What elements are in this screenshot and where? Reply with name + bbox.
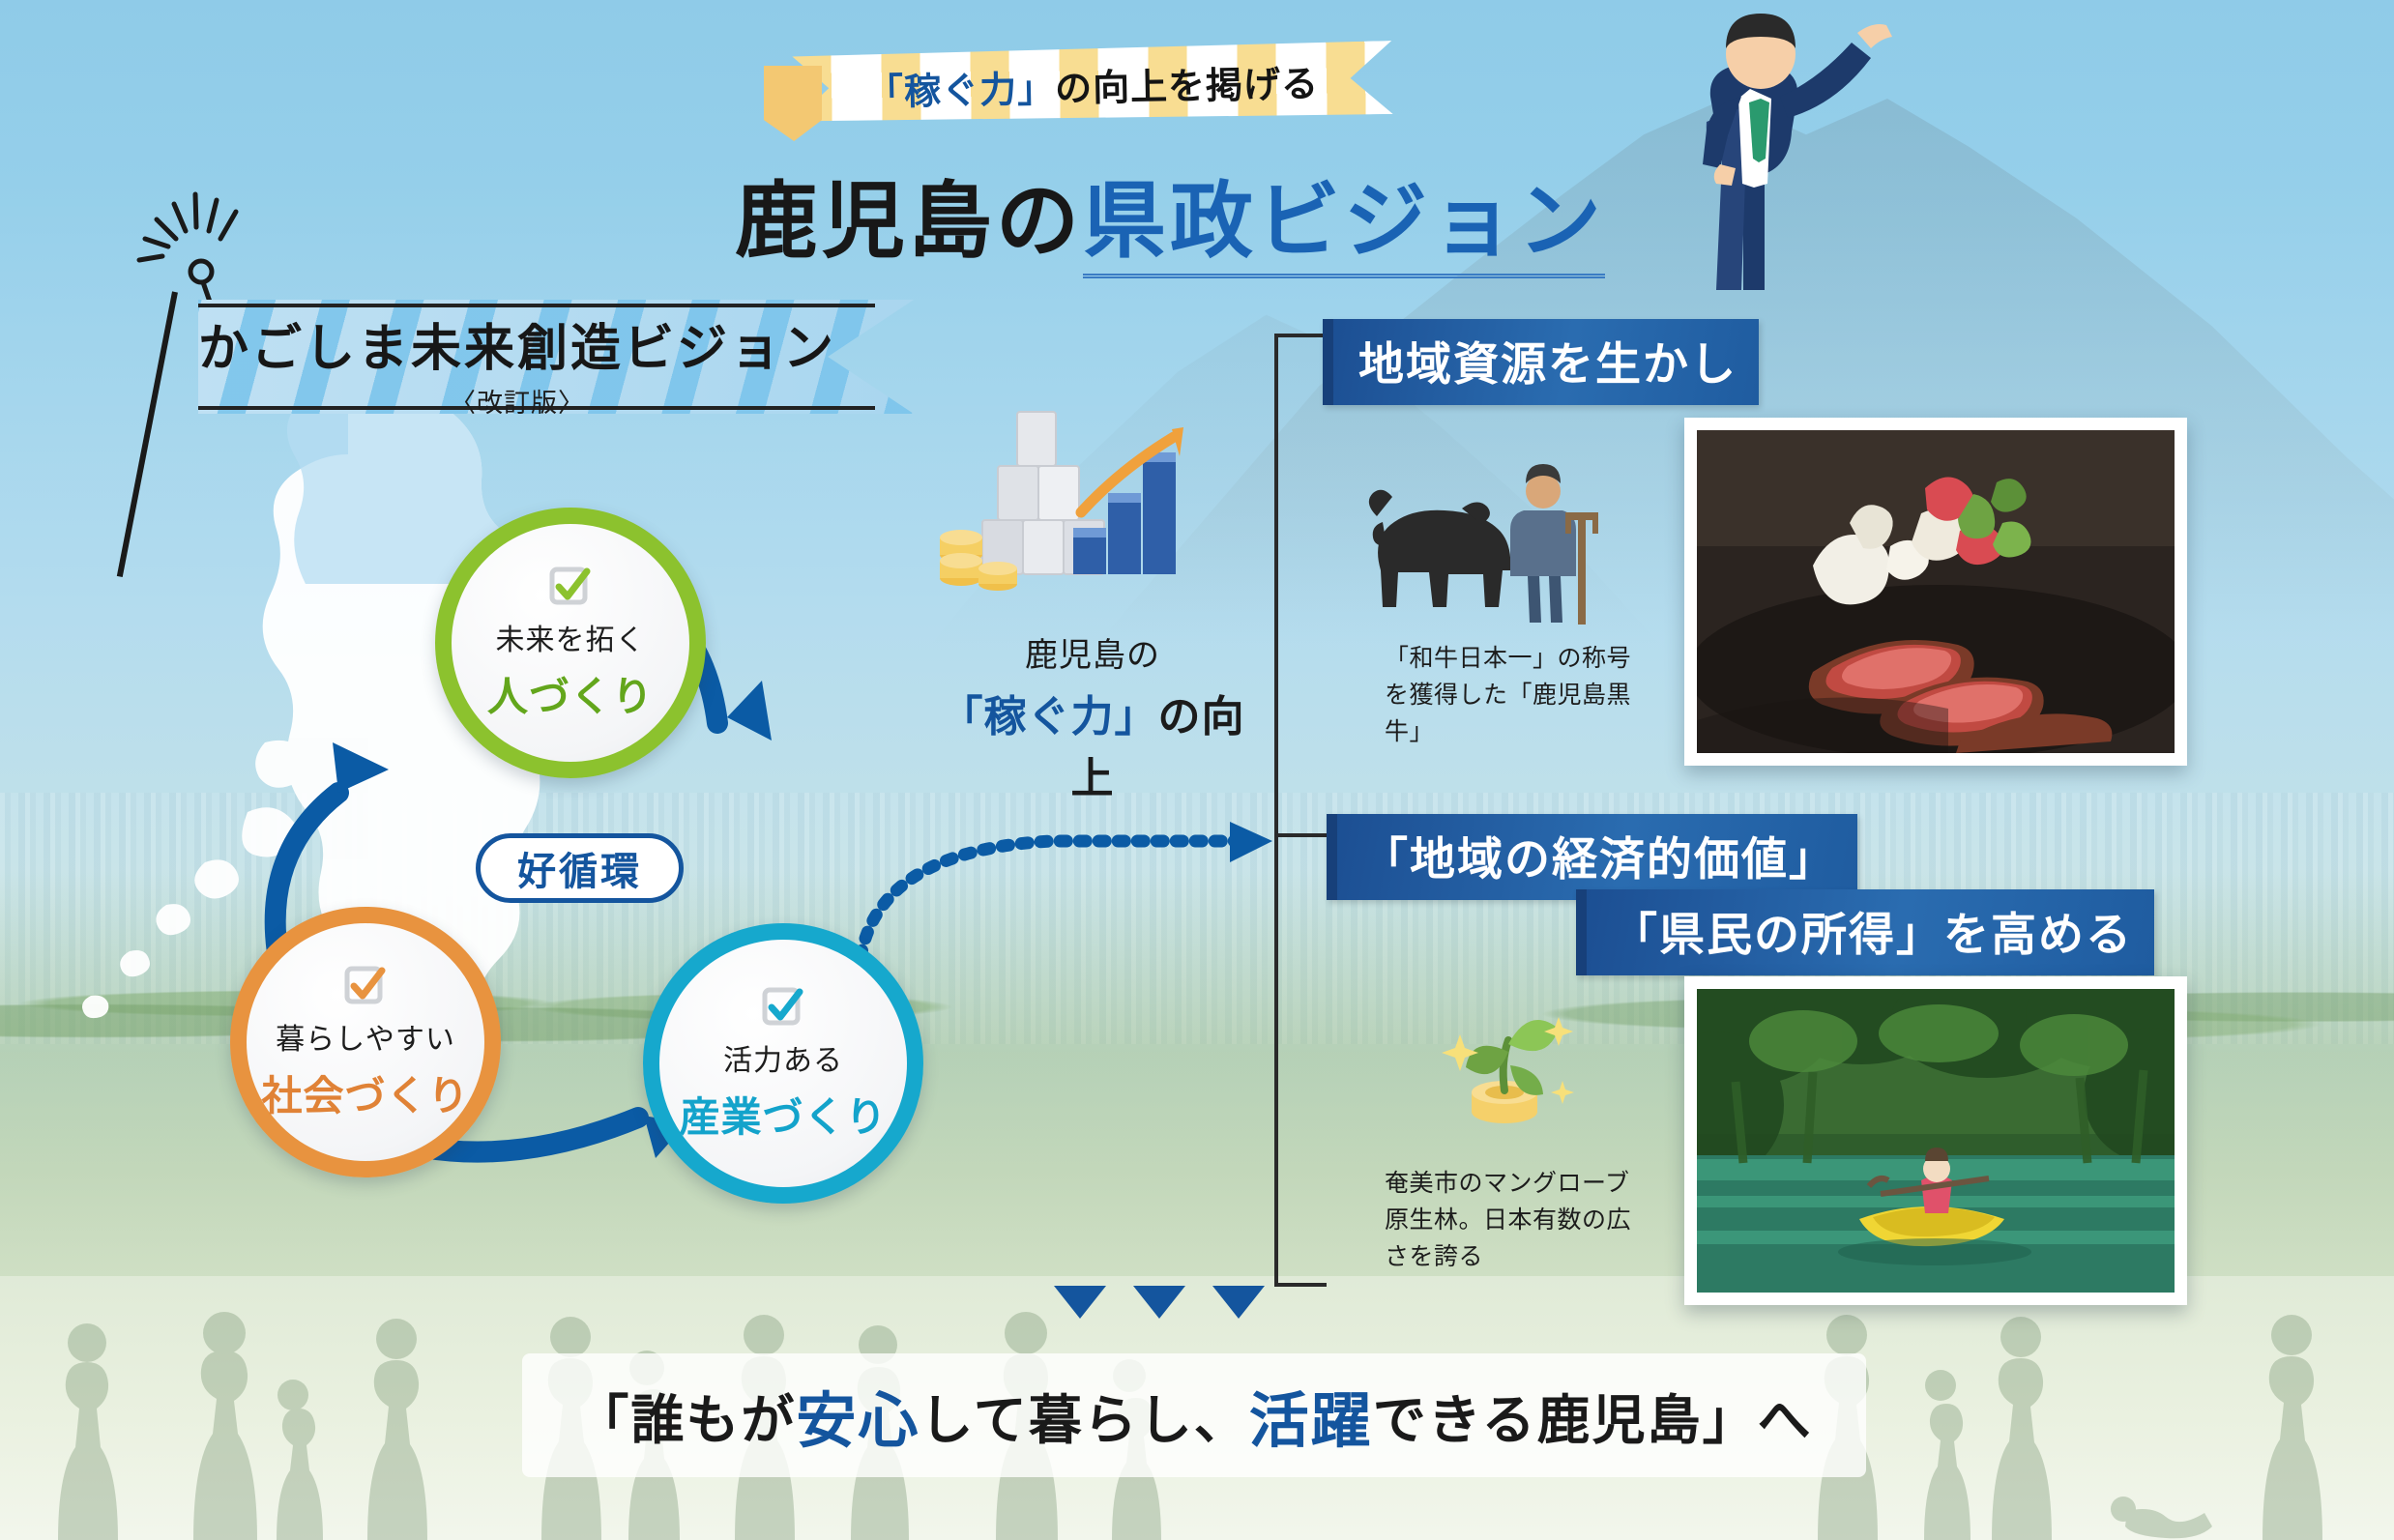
businessman-illustration bbox=[1581, 0, 1910, 319]
vision-banner-subtitle: 〈改訂版〉 bbox=[198, 382, 836, 420]
page-title-highlight: 県政ビジョン bbox=[1083, 175, 1605, 278]
infographic-canvas: 「稼ぐ力」の向上を掲げる 鹿児島の県政ビジョン bbox=[0, 0, 2394, 1540]
downward-arrow-indicators bbox=[1054, 1286, 1265, 1319]
vision-banner-title: かごしま未来創造ビジョン bbox=[198, 307, 836, 380]
mangrove-caption: 奄美市のマングローブ原生林。日本有数の広さを誇る bbox=[1385, 1165, 1646, 1275]
mangrove-kayak-photo bbox=[1684, 976, 2187, 1305]
vision-banner-text: かごしま未来創造ビジョン 〈改訂版〉 bbox=[198, 307, 836, 420]
bottom-slogan-highlight-katsuyaku: 活躍 bbox=[1249, 1372, 1373, 1459]
circle-shakaizukuri[interactable]: 暮らしやすい 社会づくり bbox=[230, 907, 501, 1177]
right-heading-resident-income: 「県民の所得」を高める bbox=[1576, 889, 2154, 975]
divider-tick-bottom bbox=[1274, 1283, 1327, 1287]
circle-hitozukuri-title: 人づくり bbox=[487, 664, 654, 723]
checkbox-check-icon bbox=[548, 564, 593, 608]
divider-tick-top bbox=[1274, 334, 1327, 337]
circle-hitozukuri[interactable]: 未来を拓く 人づくり bbox=[435, 508, 706, 778]
wagyu-beef-caption: 「和牛日本一」の称号を獲得した「鹿児島黒牛」 bbox=[1385, 640, 1646, 750]
wagyu-beef-photo-inner bbox=[1697, 430, 2175, 753]
wagyu-beef-photo-image bbox=[1697, 430, 2175, 753]
bottom-slogan-part1: 「誰もが bbox=[575, 1377, 796, 1454]
vision-banner: かごしま未来創造ビジョン 〈改訂版〉 bbox=[198, 300, 914, 414]
page-title: 鹿児島の県政ビジョン bbox=[735, 153, 1605, 274]
circle-sangyozukuri-subtitle: 活力ある bbox=[723, 1036, 843, 1079]
bottom-slogan-highlight-anshin: 安心 bbox=[796, 1372, 920, 1459]
bottom-slogan: 「誰もが安心して暮らし、活躍できる鹿児島」へ bbox=[522, 1353, 1866, 1477]
sparkle-burst-icon bbox=[126, 179, 261, 305]
wagyu-cattle-and-farmer-icon bbox=[1354, 454, 1644, 628]
mangrove-kayak-photo-image bbox=[1697, 989, 2175, 1293]
bottom-slogan-part3: できる鹿児島」へ bbox=[1373, 1377, 1813, 1454]
mangrove-kayak-photo-inner bbox=[1697, 989, 2175, 1293]
header-ribbon-highlight: 「稼ぐ力」 bbox=[865, 58, 1055, 115]
header-ribbon-rest: の向上を掲げる bbox=[1054, 53, 1319, 111]
circle-shakaizukuri-subtitle: 暮らしやすい bbox=[276, 1015, 455, 1058]
right-heading-economic-value: 「地域の経済的価値」 bbox=[1327, 814, 1857, 900]
sprout-coin-growth-icon bbox=[1421, 976, 1595, 1150]
page-title-prefix: 鹿児島の bbox=[735, 175, 1083, 268]
virtuous-cycle-badge: 好循環 bbox=[476, 833, 684, 903]
header-ribbon-text: 「稼ぐ力」の向上を掲げる bbox=[792, 48, 1392, 120]
circle-hitozukuri-subtitle: 未来を拓く bbox=[496, 616, 646, 658]
right-heading-regional-resources: 地域資源を生かし bbox=[1323, 319, 1759, 405]
wagyu-beef-photo bbox=[1684, 418, 2187, 766]
triangle-down-icon bbox=[1054, 1286, 1106, 1319]
circle-sangyozukuri-title: 産業づくり bbox=[679, 1085, 887, 1144]
triangle-down-icon bbox=[1133, 1286, 1185, 1319]
checkbox-check-icon bbox=[343, 963, 388, 1007]
triangle-down-icon bbox=[1212, 1286, 1265, 1319]
circle-sangyozukuri[interactable]: 活力ある 産業づくり bbox=[643, 923, 923, 1204]
checkbox-check-icon bbox=[761, 984, 805, 1029]
bottom-slogan-part2: して暮らし、 bbox=[920, 1377, 1248, 1454]
circle-shakaizukuri-title: 社会づくり bbox=[261, 1063, 469, 1122]
